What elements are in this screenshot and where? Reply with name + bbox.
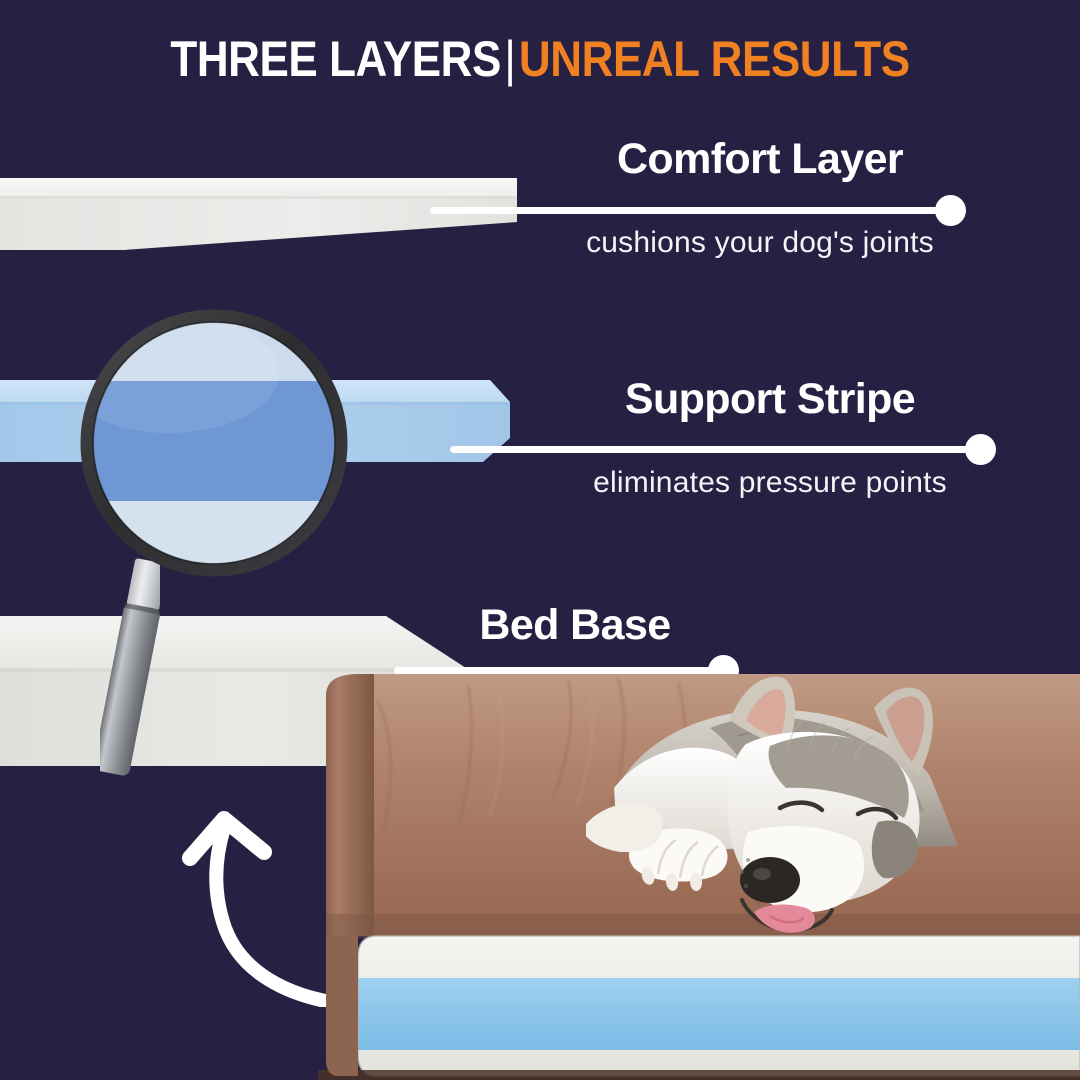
magnifier-handle [100, 555, 160, 785]
leader-line-comfort-layer [430, 207, 951, 214]
leader-dot-support-stripe [965, 434, 996, 465]
page-title: THREE LAYERS|UNREAL RESULTS [65, 34, 1015, 84]
headline-part-two: UNREAL RESULTS [519, 31, 910, 87]
callout-title-support-stripe: Support Stripe [540, 378, 1000, 421]
headline-separator: | [501, 31, 519, 87]
callout-support-stripe: Support Stripe eliminates pressure point… [450, 378, 1050, 508]
product-photo-dog-on-bed [318, 636, 1080, 1080]
leader-dot-comfort-layer [935, 195, 966, 226]
headline-part-one: THREE LAYERS [170, 31, 501, 87]
callout-comfort-layer: Comfort Layer cushions your dog's joints [430, 138, 1030, 268]
leader-line-support-stripe [450, 446, 980, 453]
infographic-canvas: THREE LAYERS|UNREAL RESULTS [0, 0, 1080, 1080]
callout-title-comfort-layer: Comfort Layer [530, 138, 990, 181]
callout-subtitle-comfort-layer: cushions your dog's joints [510, 228, 1010, 258]
magnifier-icon [74, 303, 354, 583]
callout-subtitle-support-stripe: eliminates pressure points [520, 468, 1020, 498]
